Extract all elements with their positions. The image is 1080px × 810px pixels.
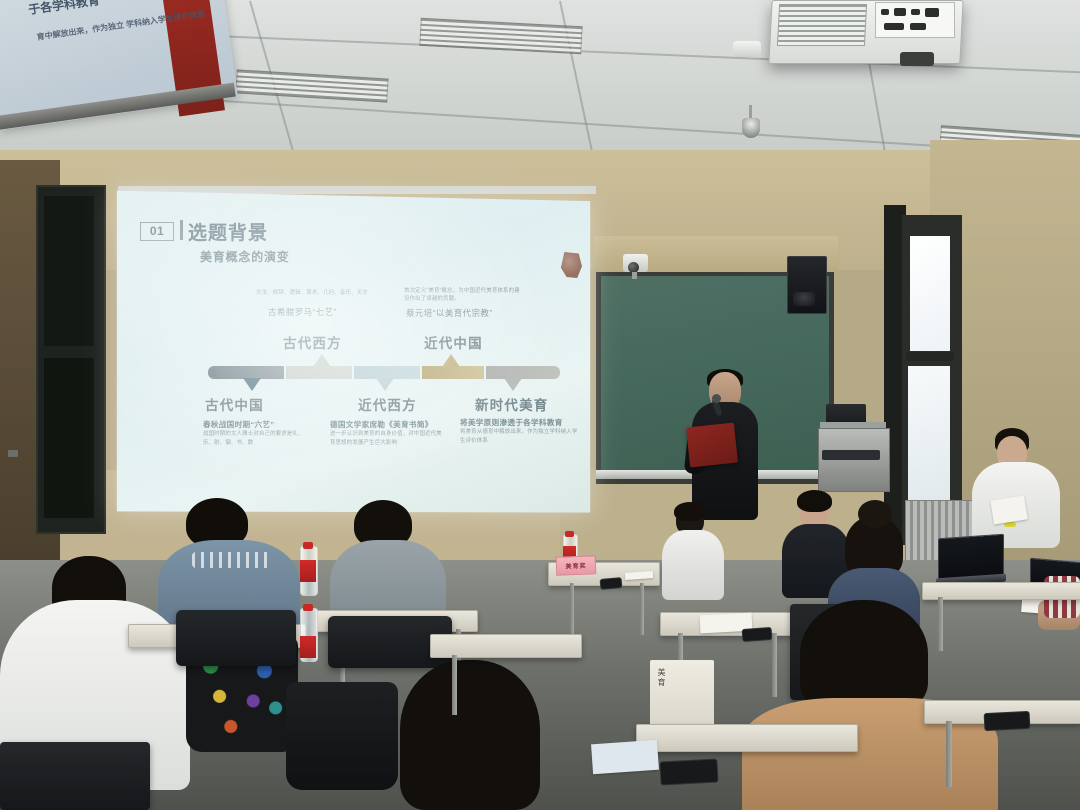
- column-body: 将美育从德育中解放出来，作为独立学科纳入学生评价体系: [460, 428, 582, 445]
- column-body: 进一步认识到美育的自身价值，对中国近代美育思想的发展产生巨大影响: [330, 430, 445, 447]
- phone[interactable]: [984, 711, 1031, 731]
- timeline-marker-down: [504, 378, 522, 391]
- timeline-segment: [422, 366, 484, 379]
- timeline-bar: [208, 366, 560, 379]
- chair[interactable]: [0, 742, 150, 810]
- slide-era-label: 新时代美育: [475, 394, 549, 414]
- classroom-photo: 01 选题背景 美育概念的演变 文法、修辞、逻辑、算术、几何、音乐、天文 古希腊…: [0, 0, 1080, 810]
- desk: [636, 724, 858, 752]
- door-glass-upper: [44, 196, 94, 346]
- slide-era-ancient-west: 古代西方: [283, 332, 342, 352]
- desk: [922, 582, 1080, 600]
- projector-lens: [900, 52, 934, 66]
- slide-era-label: 古代中国: [205, 394, 264, 414]
- bottle-cap: [565, 531, 574, 537]
- name-card-text: 美育奖: [565, 561, 586, 571]
- ceiling-vent: [419, 18, 582, 54]
- column-heading: 德国文学家席勒《美育书简》: [330, 419, 445, 430]
- phone[interactable]: [600, 577, 623, 590]
- bottle-label: [300, 636, 316, 658]
- camera-mount: [632, 272, 637, 279]
- desk-leg: [772, 633, 777, 697]
- projector-ports: [875, 2, 955, 38]
- door-handle[interactable]: [8, 450, 18, 457]
- timeline-marker-up: [313, 354, 331, 367]
- microphone-head-icon: [712, 394, 721, 403]
- timeline-segment: [286, 366, 352, 379]
- slide-column: 德国文学家席勒《美育书简》 进一步认识到美育的自身价值，对中国近代美育思想的发展…: [330, 419, 445, 447]
- wristband: [1004, 522, 1016, 527]
- desk-leg: [640, 583, 644, 635]
- phone[interactable]: [659, 758, 718, 785]
- student-torso: [662, 530, 724, 600]
- tote-bag-text: 美育: [656, 668, 667, 688]
- slide-subtitle: 美育概念的演变: [200, 248, 290, 265]
- desk-leg: [946, 721, 952, 787]
- console-keyboard[interactable]: [822, 450, 880, 460]
- student-hair: [797, 490, 832, 512]
- slide-note-modern-china: 首次定义“美育”概念，为中国近代美育体系的建设作出了卓越的贡献。: [404, 287, 524, 303]
- column-body: 战国时期的文人雅士对自己的要求是礼、乐、射、御、书、数: [203, 430, 313, 447]
- timeline-marker-up: [442, 354, 460, 367]
- timeline-marker-down: [376, 378, 394, 391]
- slide-column: 春秋战国时期“六艺” 战国时期的文人雅士对自己的要求是礼、乐、射、御、书、数: [203, 419, 313, 447]
- slide-key-modern-china: 蔡元培“以美育代宗教”: [406, 307, 493, 319]
- timeline-segment: [486, 366, 560, 379]
- column-heading: 春秋战国时期“六艺”: [203, 419, 313, 430]
- slide-column: 将美学原则渗透于各学科教育 将美育从德育中解放出来，作为独立学科纳入学生评价体系: [460, 417, 582, 445]
- slide-title: 选题背景: [188, 218, 268, 245]
- notebook: [591, 740, 659, 775]
- student-hair: [800, 600, 928, 712]
- jacket-embroidery: [192, 552, 270, 568]
- desk-leg: [938, 597, 943, 651]
- hair-bun: [858, 500, 892, 528]
- slide-era-modern-china: 近代中国: [424, 332, 483, 352]
- teaching-console[interactable]: [818, 428, 890, 492]
- slide-era-label: 近代西方: [358, 394, 417, 414]
- bottle-cap: [303, 604, 313, 611]
- slide-note-ancient-west: 文法、修辞、逻辑、算术、几何、音乐、天文: [256, 289, 368, 297]
- student-hair: [674, 502, 706, 521]
- black-bag: [286, 682, 398, 790]
- ceiling-dome-camera-icon: [742, 118, 760, 138]
- projector-vent: [777, 4, 867, 46]
- timeline-start-dot: [210, 369, 217, 376]
- bottle-cap: [303, 542, 313, 549]
- ceiling-vent: [235, 69, 388, 102]
- chair[interactable]: [176, 610, 296, 666]
- phone[interactable]: [742, 627, 773, 642]
- smoke-detector-icon: [733, 41, 761, 57]
- window-pane-upper: [910, 236, 950, 351]
- bottle-label: [300, 560, 316, 582]
- desk-leg: [570, 583, 574, 641]
- window-mullion: [906, 352, 954, 361]
- timeline-marker-down: [243, 378, 261, 391]
- desk-leg: [452, 655, 457, 715]
- name-card: 美育奖: [556, 555, 597, 575]
- slide-number-badge: 01: [140, 222, 174, 241]
- tote-bag: 美育: [650, 660, 714, 730]
- student-hair: [400, 660, 540, 810]
- column-heading: 将美学原则渗透于各学科教育: [460, 417, 582, 428]
- door-glass-lower: [44, 358, 94, 518]
- title-divider: [180, 220, 183, 240]
- slide-key-ancient-west: 古希腊罗马“七艺”: [268, 306, 337, 318]
- speaker-cone-icon: [793, 292, 815, 306]
- red-folder: [686, 423, 738, 468]
